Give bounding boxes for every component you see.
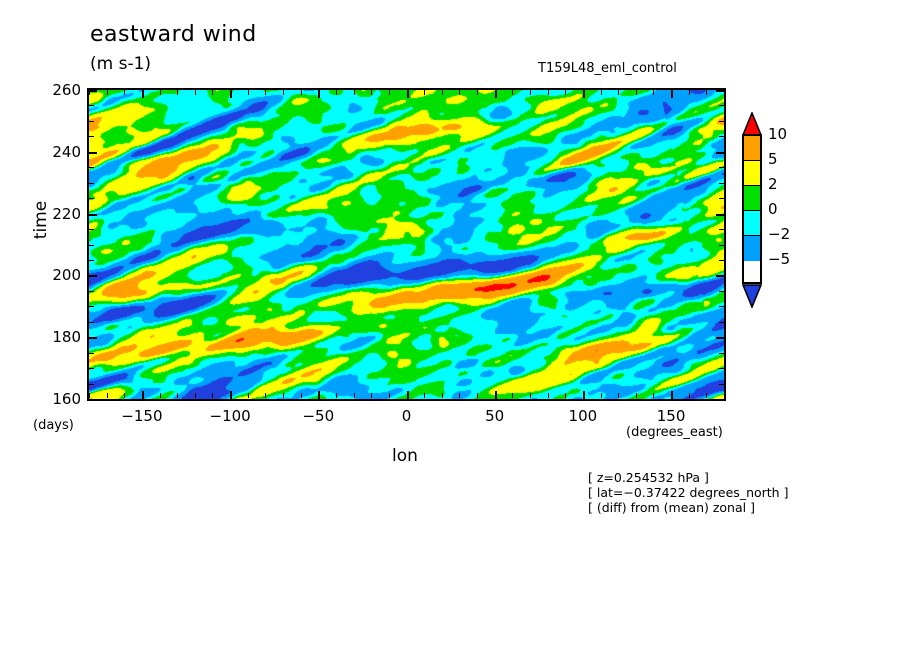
x-tick-label-1: −100 — [190, 407, 270, 425]
colorbar-label-1: 5 — [768, 150, 778, 168]
y-tick-minor — [89, 105, 94, 106]
y-tick-minor — [719, 229, 724, 230]
x-tick-minor — [565, 393, 566, 398]
x-tick-label-0: −150 — [102, 407, 182, 425]
y-tick-minor — [89, 322, 94, 323]
colorbar-label-2: 2 — [768, 175, 778, 193]
x-tick-bottom — [318, 391, 320, 399]
x-tick-label-4: 50 — [455, 407, 535, 425]
units-subtitle: (m s-1) — [90, 54, 151, 74]
x-tick-minor — [248, 393, 249, 398]
y-axis-unit-label: (days) — [33, 418, 74, 433]
x-axis-title-text: lon — [392, 446, 418, 466]
y-tick-label-4: 180 — [1, 328, 81, 346]
x-tick-minor — [107, 90, 108, 95]
y-tick-label-1: 240 — [1, 143, 81, 161]
y-tick-left — [89, 214, 97, 216]
hovmoller-plot-area — [87, 88, 726, 401]
x-tick-minor — [195, 393, 196, 398]
y-tick-minor — [719, 167, 724, 168]
x-tick-minor — [336, 90, 337, 95]
y-tick-minor — [89, 167, 94, 168]
x-tick-top — [407, 90, 409, 98]
x-tick-top — [142, 90, 144, 98]
x-tick-minor — [265, 90, 266, 95]
x-tick-label-6: 150 — [631, 407, 711, 425]
colorbar-segment--5 — [744, 236, 760, 261]
x-tick-minor — [724, 90, 725, 95]
x-tick-minor — [283, 90, 284, 95]
x-tick-minor — [160, 90, 161, 95]
x-tick-minor — [565, 90, 566, 95]
x-tick-minor — [248, 90, 249, 95]
y-tick-label-0: 260 — [1, 81, 81, 99]
y-axis-title: time — [31, 175, 51, 265]
x-tick-minor — [724, 393, 725, 398]
x-tick-top — [583, 90, 585, 98]
x-tick-minor — [124, 90, 125, 95]
x-tick-minor — [442, 393, 443, 398]
annotation-line-0: [ z=0.254532 hPa ] — [588, 470, 788, 485]
x-tick-bottom — [671, 391, 673, 399]
x-tick-minor — [477, 393, 478, 398]
x-tick-minor — [689, 90, 690, 95]
page-title: eastward wind — [90, 22, 257, 47]
y-tick-right — [716, 152, 724, 154]
x-tick-bottom — [583, 391, 585, 399]
x-tick-minor — [512, 393, 513, 398]
y-tick-right — [716, 337, 724, 339]
x-tick-minor — [336, 393, 337, 398]
y-tick-right — [716, 399, 724, 401]
x-tick-minor — [371, 90, 372, 95]
colorbar-segment-2 — [744, 161, 760, 186]
y-tick-label-5: 160 — [1, 390, 81, 408]
x-tick-minor — [265, 393, 266, 398]
y-tick-minor — [89, 183, 94, 184]
colorbar-segment-5 — [744, 136, 760, 161]
y-tick-minor — [89, 306, 94, 307]
y-tick-left — [89, 337, 97, 339]
run-identifier: T159L48_eml_control — [538, 61, 677, 76]
y-tick-left — [89, 275, 97, 277]
x-tick-minor — [636, 90, 637, 95]
y-tick-minor — [719, 183, 724, 184]
y-tick-minor — [719, 306, 724, 307]
x-tick-minor — [512, 90, 513, 95]
colorbar-min-arrow-icon — [742, 284, 762, 308]
x-tick-label-3: 0 — [367, 407, 447, 425]
x-tick-minor — [477, 90, 478, 95]
x-tick-label-2: −50 — [278, 407, 358, 425]
x-tick-bottom — [142, 391, 144, 399]
x-tick-minor — [177, 90, 178, 95]
x-tick-minor — [618, 393, 619, 398]
x-tick-bottom — [230, 391, 232, 399]
colorbar-label-4: −2 — [768, 225, 790, 243]
y-tick-minor — [719, 245, 724, 246]
x-tick-minor — [195, 90, 196, 95]
x-tick-minor — [124, 393, 125, 398]
colorbar-segment-0 — [744, 186, 760, 211]
x-tick-minor — [354, 393, 355, 398]
y-tick-minor — [89, 121, 94, 122]
x-tick-minor — [354, 90, 355, 95]
y-tick-minor — [89, 384, 94, 385]
x-tick-minor — [618, 90, 619, 95]
x-tick-minor — [530, 90, 531, 95]
x-tick-minor — [212, 90, 213, 95]
y-tick-right — [716, 275, 724, 277]
y-tick-minor — [89, 368, 94, 369]
x-tick-minor — [689, 393, 690, 398]
y-tick-minor — [89, 136, 94, 137]
colorbar-label-5: −5 — [768, 250, 790, 268]
x-tick-minor — [459, 90, 460, 95]
annotation-line-1: [ lat=−0.37422 degrees_north ] — [588, 485, 788, 500]
x-tick-label-5: 100 — [543, 407, 623, 425]
y-tick-minor — [719, 105, 724, 106]
x-tick-minor — [389, 393, 390, 398]
x-tick-minor — [601, 90, 602, 95]
x-tick-minor — [89, 393, 90, 398]
y-tick-right — [716, 90, 724, 92]
y-tick-minor — [89, 198, 94, 199]
y-tick-minor — [89, 229, 94, 230]
annotation-line-2: [ (diff) from (mean) zonal ] — [588, 500, 788, 515]
y-tick-label-3: 200 — [1, 266, 81, 284]
y-tick-minor — [719, 353, 724, 354]
x-tick-minor — [107, 393, 108, 398]
y-tick-minor — [89, 353, 94, 354]
colorbar-label-0: 10 — [768, 125, 787, 143]
colorbar-segments — [742, 134, 762, 284]
x-tick-minor — [283, 393, 284, 398]
x-tick-minor — [424, 393, 425, 398]
y-tick-left — [89, 399, 97, 401]
x-tick-minor — [389, 90, 390, 95]
x-tick-minor — [160, 393, 161, 398]
y-tick-minor — [719, 322, 724, 323]
colorbar: 10520−2−5 — [736, 112, 886, 307]
colorbar-max-arrow-icon — [742, 112, 762, 136]
x-tick-minor — [636, 393, 637, 398]
x-tick-minor — [177, 393, 178, 398]
x-tick-minor — [459, 393, 460, 398]
y-tick-left — [89, 90, 97, 92]
x-tick-top — [230, 90, 232, 98]
y-tick-minor — [719, 368, 724, 369]
x-tick-bottom — [407, 391, 409, 399]
y-tick-minor — [89, 291, 94, 292]
y-tick-left — [89, 152, 97, 154]
x-tick-minor — [548, 90, 549, 95]
y-tick-minor — [89, 260, 94, 261]
x-tick-minor — [301, 393, 302, 398]
x-tick-minor — [301, 90, 302, 95]
y-tick-right — [716, 214, 724, 216]
y-tick-minor — [719, 384, 724, 385]
x-tick-top — [671, 90, 673, 98]
x-tick-minor — [653, 393, 654, 398]
wind-field-heatmap — [89, 90, 724, 399]
x-tick-top — [318, 90, 320, 98]
x-tick-minor — [653, 90, 654, 95]
x-tick-bottom — [495, 391, 497, 399]
x-tick-minor — [212, 393, 213, 398]
y-tick-minor — [89, 245, 94, 246]
x-tick-minor — [601, 393, 602, 398]
x-tick-minor — [548, 393, 549, 398]
x-tick-minor — [706, 90, 707, 95]
x-tick-minor — [706, 393, 707, 398]
x-tick-minor — [442, 90, 443, 95]
y-tick-minor — [719, 291, 724, 292]
x-axis-unit-label: (degrees_east) — [626, 425, 723, 440]
x-tick-minor — [371, 393, 372, 398]
y-tick-minor — [719, 198, 724, 199]
x-tick-top — [495, 90, 497, 98]
y-tick-minor — [719, 121, 724, 122]
y-tick-minor — [719, 260, 724, 261]
x-tick-minor — [424, 90, 425, 95]
colorbar-segment--2 — [744, 211, 760, 236]
x-tick-minor — [530, 393, 531, 398]
colorbar-label-3: 0 — [768, 200, 778, 218]
y-tick-minor — [719, 136, 724, 137]
metadata-annotations: [ z=0.254532 hPa ][ lat=−0.37422 degrees… — [588, 470, 788, 515]
